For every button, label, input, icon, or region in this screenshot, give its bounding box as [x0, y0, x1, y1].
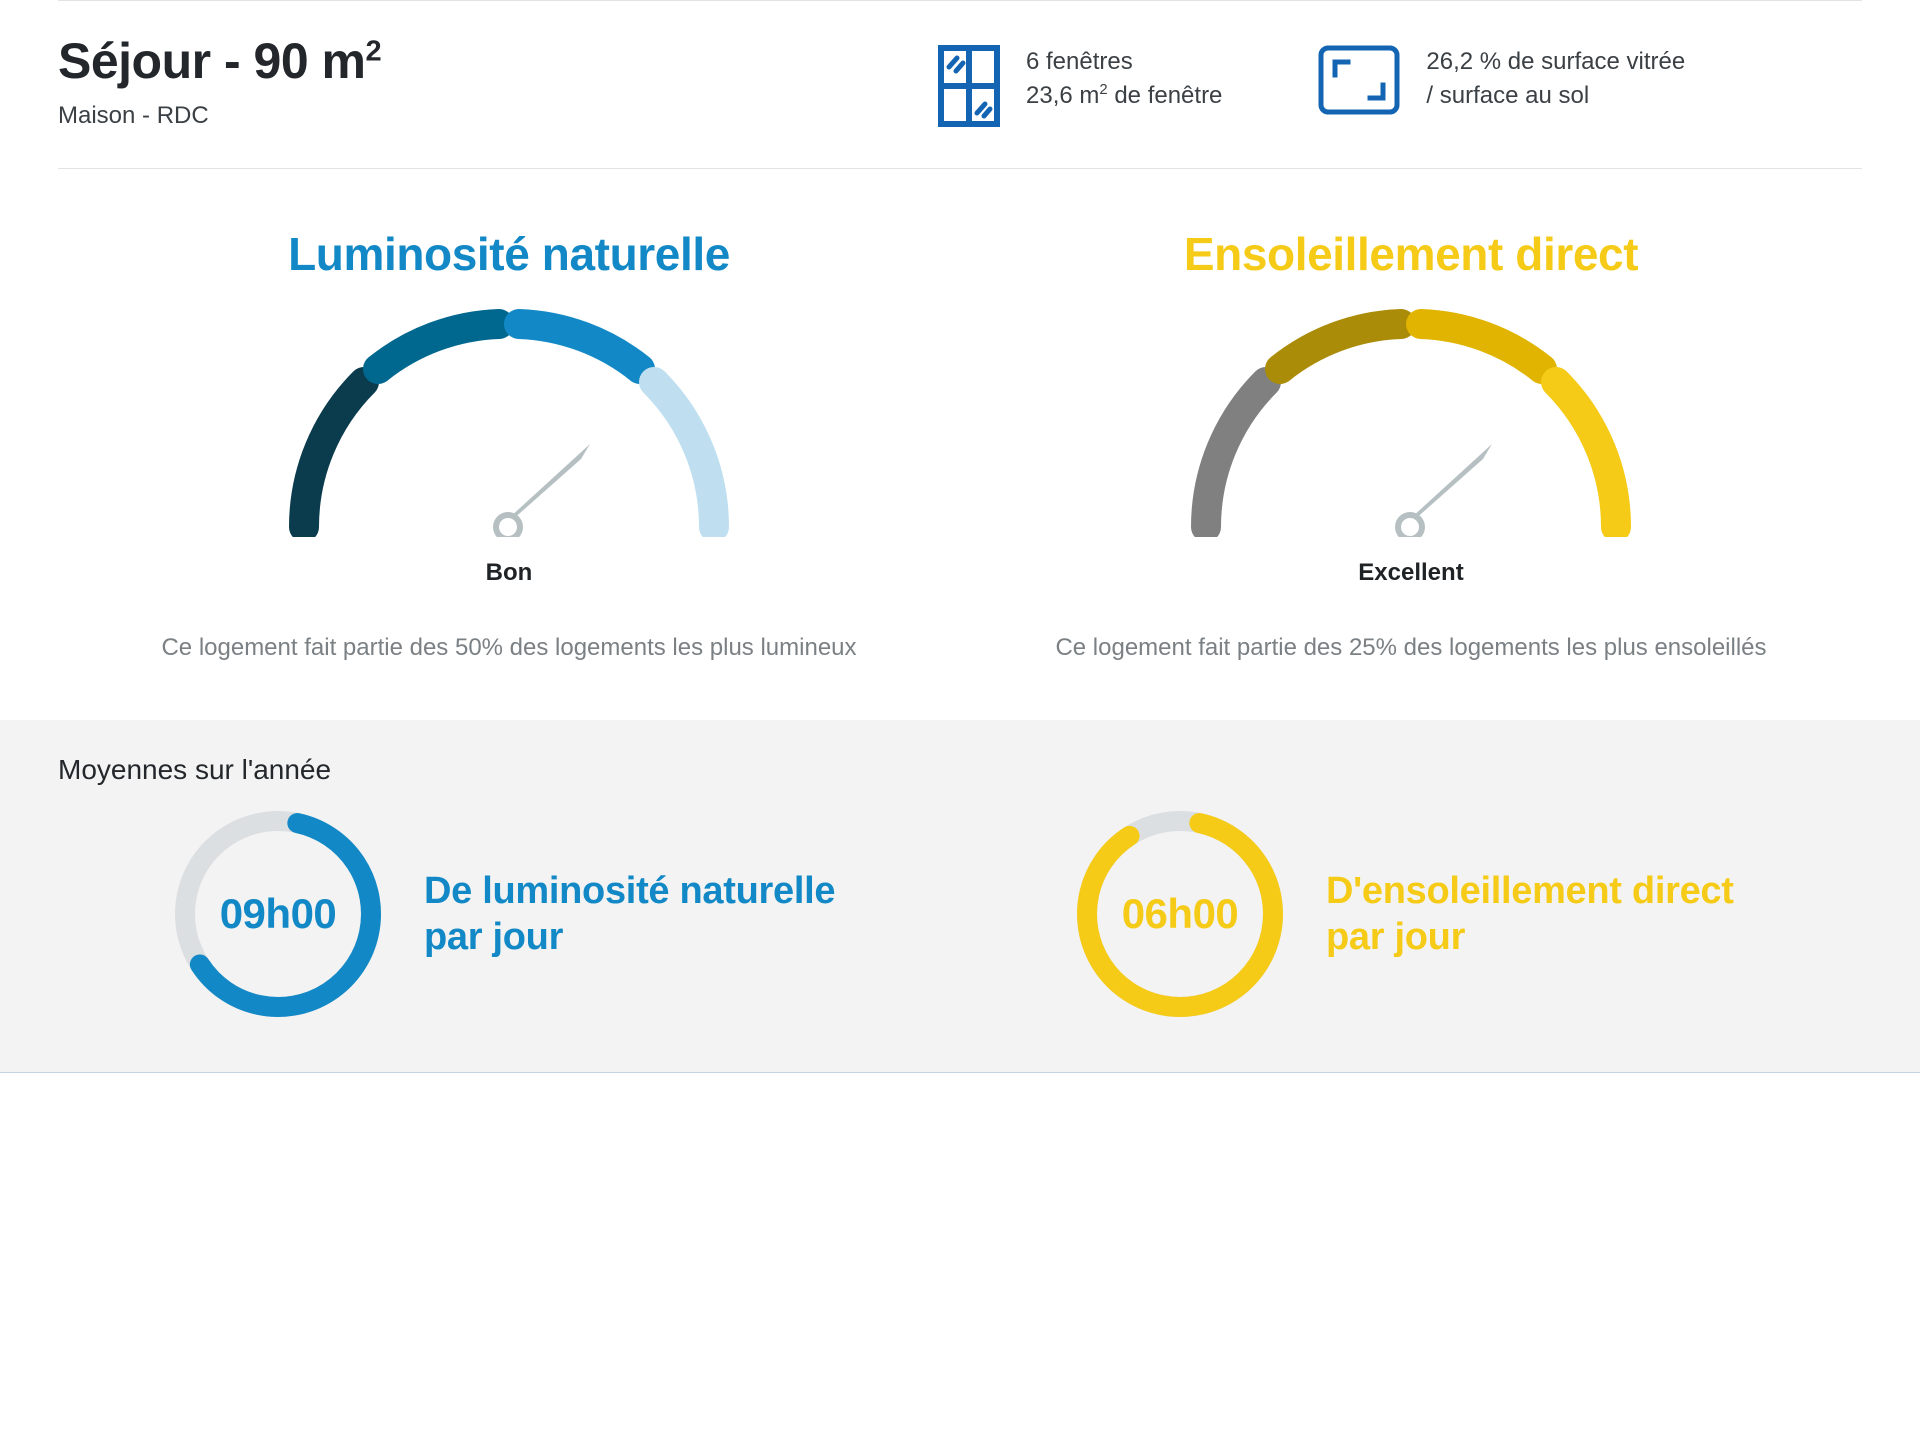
- page-title-exponent: 2: [366, 35, 382, 67]
- header-title-block: Séjour - 90 m2 Maison - RDC: [58, 35, 938, 130]
- average-daylight-label: De luminosité naturelle par jour: [424, 868, 835, 961]
- stat-windows-area-value: 23,6 m: [1026, 82, 1099, 109]
- average-daylight-label-line2: par jour: [424, 914, 835, 960]
- stat-windows-count: 6 fenêtres: [1026, 45, 1222, 79]
- stat-glazing-percent: 26,2 % de surface vitrée: [1426, 45, 1685, 79]
- page-title: Séjour - 90 m2: [58, 35, 938, 88]
- gauge-sunlight: Ensoleillement direct: [960, 179, 1862, 666]
- average-daylight-donut: 09h00: [166, 802, 390, 1026]
- stat-glazing-ratio: 26,2 % de surface vitrée / surface au so…: [1318, 45, 1685, 120]
- gauge-daylight-chart: [259, 297, 759, 537]
- stat-windows-area-unit: de fenêtre: [1108, 82, 1223, 109]
- stat-windows-text: 6 fenêtres 23,6 m2 de fenêtre: [1026, 45, 1222, 113]
- stat-windows-area: 23,6 m2 de fenêtre: [1026, 79, 1222, 113]
- gauge-daylight-description: Ce logement fait partie des 50% des loge…: [161, 629, 856, 666]
- window-icon: [938, 45, 1000, 132]
- gauge-daylight-needle: [493, 444, 590, 537]
- stat-windows: 6 fenêtres 23,6 m2 de fenêtre: [938, 45, 1222, 132]
- gauge-daylight-rating: Bon: [486, 559, 533, 587]
- average-sunlight-value: 06h00: [1068, 802, 1292, 1026]
- average-sunlight-label-line2: par jour: [1326, 914, 1734, 960]
- gauge-sunlight-rating: Excellent: [1358, 559, 1463, 587]
- header-stats: 6 fenêtres 23,6 m2 de fenêtre 26,2 % de …: [938, 35, 1685, 132]
- average-sunlight: 06h00 D'ensoleillement direct par jour: [960, 802, 1862, 1026]
- gauges-section: Luminosité naturelle: [58, 168, 1862, 666]
- average-daylight: 09h00 De luminosité naturelle par jour: [58, 802, 960, 1026]
- stat-glazing-text: 26,2 % de surface vitrée / surface au so…: [1426, 45, 1685, 113]
- average-sunlight-label-line1: D'ensoleillement direct: [1326, 868, 1734, 914]
- gauge-daylight: Luminosité naturelle: [58, 179, 960, 666]
- averages-section: Moyennes sur l'année 09h00 De luminosité…: [0, 720, 1920, 1073]
- stat-windows-area-exponent: 2: [1099, 82, 1107, 98]
- header: Séjour - 90 m2 Maison - RDC: [58, 1, 1862, 168]
- gauge-sunlight-chart: [1161, 297, 1661, 537]
- report-page: Séjour - 90 m2 Maison - RDC: [0, 0, 1920, 1440]
- page-subtitle: Maison - RDC: [58, 102, 938, 130]
- gauge-sunlight-title: Ensoleillement direct: [1184, 227, 1638, 281]
- gauge-sunlight-description: Ce logement fait partie des 25% des loge…: [1055, 629, 1766, 666]
- average-sunlight-donut: 06h00: [1068, 802, 1292, 1026]
- floor-ratio-icon: [1318, 45, 1400, 120]
- page-title-text: Séjour - 90 m: [58, 33, 366, 89]
- average-daylight-label-line1: De luminosité naturelle: [424, 868, 835, 914]
- footer-whitespace: [0, 1073, 1920, 1440]
- gauge-sunlight-needle: [1395, 444, 1492, 537]
- gauge-daylight-title: Luminosité naturelle: [288, 227, 730, 281]
- averages-title: Moyennes sur l'année: [58, 754, 1862, 786]
- average-daylight-value: 09h00: [166, 802, 390, 1026]
- stat-glazing-denominator: / surface au sol: [1426, 79, 1685, 113]
- average-sunlight-label: D'ensoleillement direct par jour: [1326, 868, 1734, 961]
- averages-donuts: 09h00 De luminosité naturelle par jour 0…: [58, 802, 1862, 1026]
